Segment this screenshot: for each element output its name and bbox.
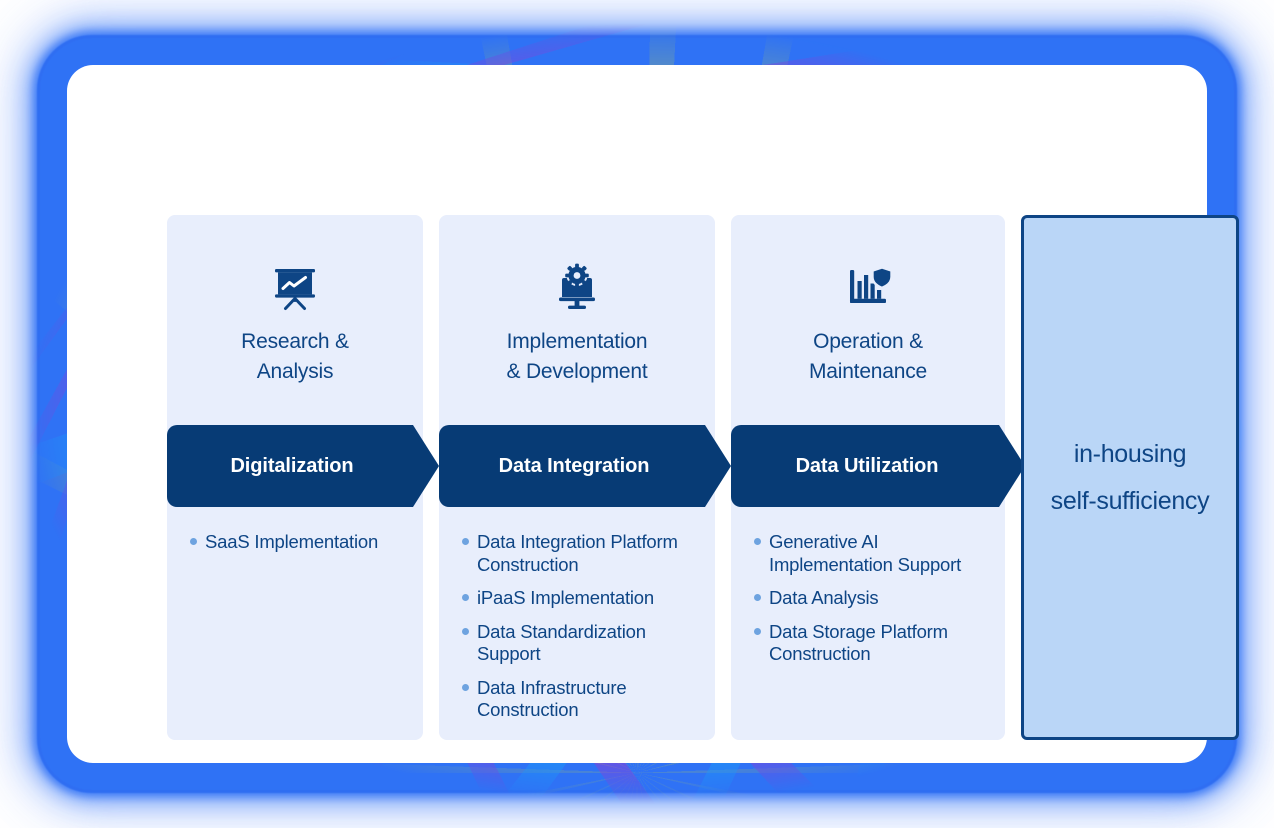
list-item: iPaaS Implementation	[461, 587, 701, 610]
service-list: Data Integration Platform Construction i…	[461, 531, 701, 733]
outcome-line2: self-sufficiency	[1051, 478, 1210, 525]
column-title: Research & Analysis	[241, 327, 349, 387]
list-item: Data Storage Platform Construction	[753, 621, 991, 666]
list-item: Data Analysis	[753, 587, 991, 610]
monitor-gear-icon	[550, 257, 604, 315]
column-title-line2: Analysis	[241, 357, 349, 387]
service-list: SaaS Implementation	[189, 531, 409, 565]
bar-chart-shield-icon	[841, 257, 895, 315]
column-header: Research & Analysis	[167, 215, 423, 415]
list-item: SaaS Implementation	[189, 531, 409, 554]
column-title-line2: & Development	[507, 357, 648, 387]
column-title-line1: Research &	[241, 327, 349, 357]
list-item: Generative AI Implementation Support	[753, 531, 991, 576]
service-list: Generative AI Implementation Support Dat…	[753, 531, 991, 677]
presentation-chart-icon	[268, 257, 322, 315]
stage-arrow-data-integration[interactable]: Data Integration	[439, 425, 731, 507]
column-header: Operation & Maintenance	[731, 215, 1005, 415]
column-header: Implementation & Development	[439, 215, 715, 415]
list-item: Data Infrastructure Construction	[461, 677, 701, 722]
stage-arrow-digitalization[interactable]: Digitalization	[167, 425, 439, 507]
outcome-panel-in-housing: in-housing self-sufficiency	[1021, 215, 1239, 740]
stage-arrow-data-utilization[interactable]: Data Utilization	[731, 425, 1025, 507]
stage-arrow-label: Data Utilization	[731, 455, 1025, 478]
column-title-line1: Operation &	[809, 327, 927, 357]
stage-arrow-label: Data Integration	[439, 455, 731, 478]
column-title-line1: Implementation	[507, 327, 648, 357]
list-item: Data Integration Platform Construction	[461, 531, 701, 576]
stage-arrow-label: Digitalization	[167, 455, 439, 478]
process-diagram: Research & Analysis SaaS Implementation	[167, 215, 1241, 740]
column-title-line2: Maintenance	[809, 357, 927, 387]
outcome-line1: in-housing	[1074, 431, 1186, 478]
column-title: Implementation & Development	[507, 327, 648, 387]
column-title: Operation & Maintenance	[809, 327, 927, 387]
white-card: Research & Analysis SaaS Implementation	[67, 65, 1207, 763]
list-item: Data Standardization Support	[461, 621, 701, 666]
